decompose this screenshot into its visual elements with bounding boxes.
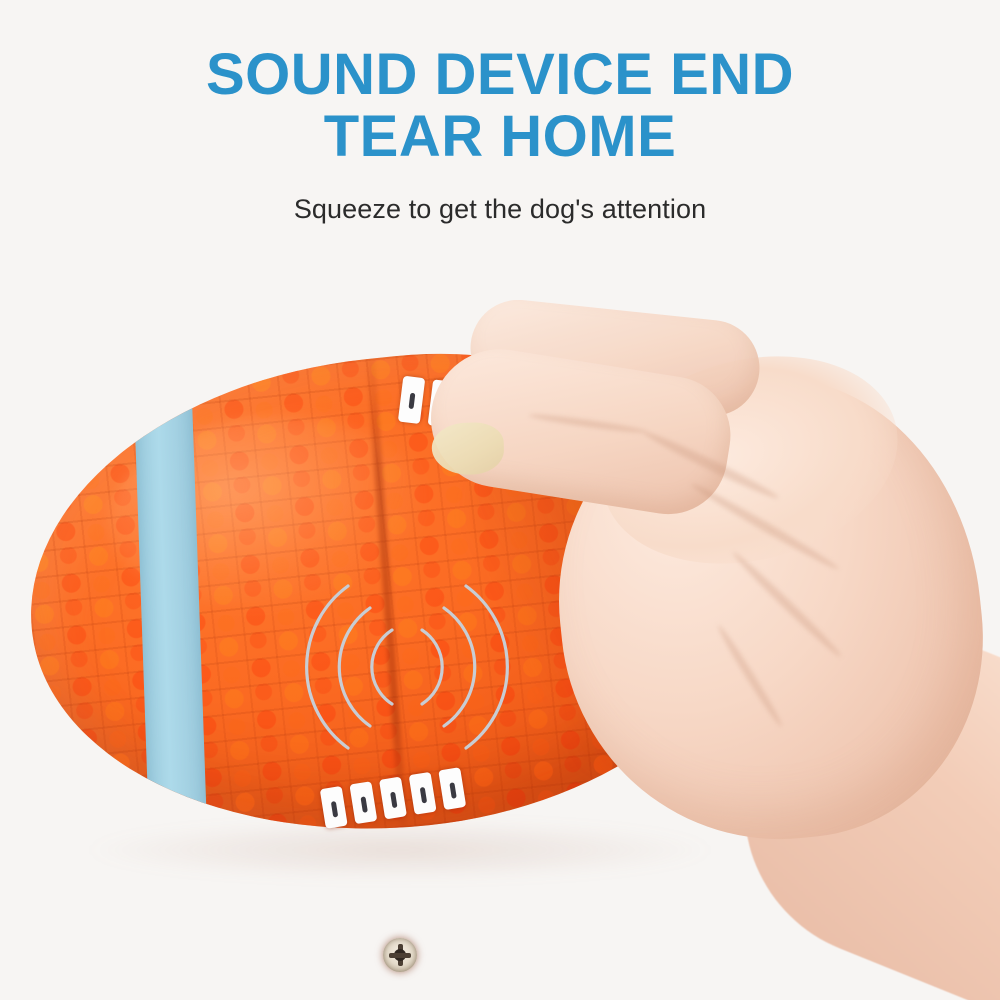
headline-line-2: TEAR HOME [0,106,1000,168]
product-photo [0,300,1000,1000]
product-banner: SOUND DEVICE END TEAR HOME Squeeze to ge… [0,0,1000,1000]
subtitle: Squeeze to get the dog's attention [0,194,1000,225]
headline-line-1: SOUND DEVICE END [0,44,1000,106]
header: SOUND DEVICE END TEAR HOME Squeeze to ge… [0,0,1000,225]
page-title: SOUND DEVICE END TEAR HOME [0,44,1000,168]
squeaker-center [394,949,406,961]
human-hand [0,300,1000,1000]
squeaker-hole-icon [383,938,417,972]
